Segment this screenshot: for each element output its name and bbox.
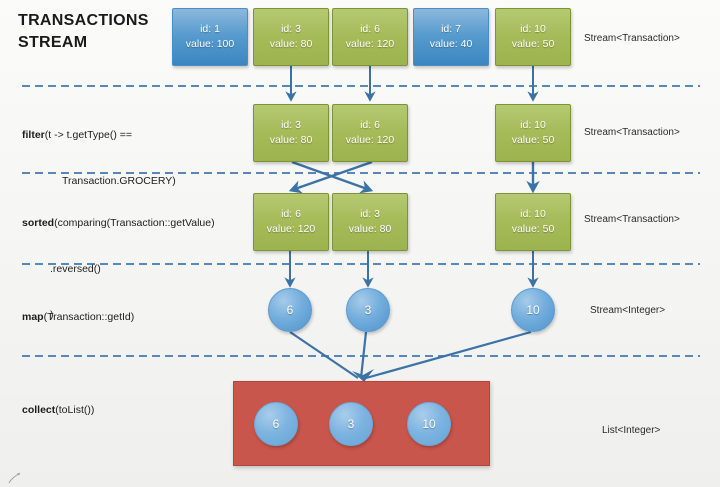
transaction-value: value: 50 <box>512 37 555 52</box>
operation-keyword-sorted: sorted <box>22 217 54 229</box>
transaction-value: value: 120 <box>346 37 394 52</box>
type-label-source: Stream<Transaction> <box>584 33 680 44</box>
transaction-value: value: 80 <box>349 222 392 237</box>
transaction-id: id: 3 <box>281 118 301 133</box>
transaction-id: id: 6 <box>360 118 380 133</box>
mapped-id-circle-3[interactable]: 3 <box>346 288 390 332</box>
transaction-id: id: 3 <box>281 22 301 37</box>
transaction-box-id6[interactable]: id: 6 value: 120 <box>332 8 408 66</box>
operation-label-map: map(Transaction::getId) <box>22 280 134 356</box>
diagram-canvas: TRANSACTIONS STREAM filter(t -> t.getTyp… <box>0 0 720 487</box>
result-circle-3[interactable]: 3 <box>329 402 373 446</box>
operation-args-map: (Transaction::getId) <box>44 311 135 323</box>
page-title-line2: STREAM <box>18 32 149 54</box>
transaction-value: value: 100 <box>186 37 234 52</box>
sorted-box-id10[interactable]: id: 10 value: 50 <box>495 193 571 251</box>
transaction-box-id10[interactable]: id: 10 value: 50 <box>495 8 571 66</box>
transaction-value: value: 120 <box>346 133 394 148</box>
transaction-id: id: 6 <box>281 207 301 222</box>
operation-args-sorted-line2: .reversed() <box>22 262 215 277</box>
transaction-box-id3[interactable]: id: 3 value: 80 <box>253 8 329 66</box>
filtered-box-id6[interactable]: id: 6 value: 120 <box>332 104 408 162</box>
result-circle-6[interactable]: 6 <box>254 402 298 446</box>
sorted-box-id3[interactable]: id: 3 value: 80 <box>332 193 408 251</box>
type-label-collect: List<Integer> <box>602 425 660 436</box>
page-title-line1: TRANSACTIONS <box>18 10 149 32</box>
sorted-box-id6[interactable]: id: 6 value: 120 <box>253 193 329 251</box>
transaction-value: value: 50 <box>512 222 555 237</box>
result-circle-10[interactable]: 10 <box>407 402 451 446</box>
transaction-id: id: 7 <box>441 22 461 37</box>
operation-args-filter: (t -> t.getType() == <box>45 129 132 141</box>
transaction-id: id: 6 <box>360 22 380 37</box>
type-label-filter: Stream<Transaction> <box>584 127 680 138</box>
transaction-value: value: 80 <box>270 133 313 148</box>
type-label-sorted: Stream<Transaction> <box>584 214 680 225</box>
operation-args-sorted: (comparing(Transaction::getValue) <box>54 217 215 229</box>
operation-keyword-collect: collect <box>22 404 55 416</box>
mapped-id-circle-6[interactable]: 6 <box>268 288 312 332</box>
transaction-box-id7[interactable]: id: 7 value: 40 <box>413 8 489 66</box>
result-list-container[interactable]: 6 3 10 <box>233 381 490 466</box>
transaction-box-id1[interactable]: id: 1 value: 100 <box>172 8 248 66</box>
operation-args-collect: (toList()) <box>55 404 94 416</box>
filtered-box-id10[interactable]: id: 10 value: 50 <box>495 104 571 162</box>
transaction-value: value: 40 <box>430 37 473 52</box>
transaction-id: id: 10 <box>520 22 546 37</box>
transaction-id: id: 3 <box>360 207 380 222</box>
type-label-map: Stream<Integer> <box>590 305 665 316</box>
transaction-value: value: 50 <box>512 133 555 148</box>
operation-keyword-map: map <box>22 311 44 323</box>
operation-keyword-filter: filter <box>22 129 45 141</box>
transaction-id: id: 1 <box>200 22 220 37</box>
operation-label-collect: collect(toList()) <box>22 373 94 449</box>
filtered-box-id3[interactable]: id: 3 value: 80 <box>253 104 329 162</box>
transaction-id: id: 10 <box>520 207 546 222</box>
mapped-id-circle-10[interactable]: 10 <box>511 288 555 332</box>
page-curl-icon <box>8 472 22 484</box>
page-title: TRANSACTIONS STREAM <box>18 10 149 53</box>
transaction-id: id: 10 <box>520 118 546 133</box>
transaction-value: value: 80 <box>270 37 313 52</box>
transaction-value: value: 120 <box>267 222 315 237</box>
